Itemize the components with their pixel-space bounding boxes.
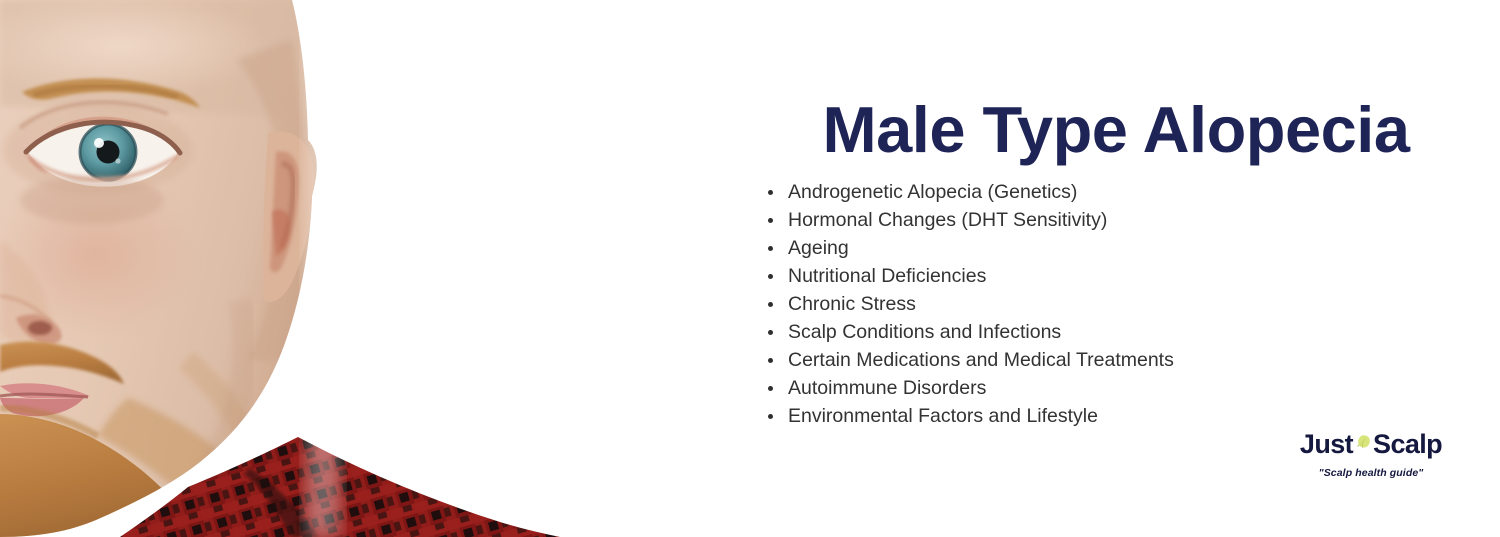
causes-list: Androgenetic Alopecia (Genetics) Hormona…: [760, 178, 1460, 430]
list-item-label: Certain Medications and Medical Treatmen…: [788, 349, 1174, 371]
logo-word-just: Just: [1300, 429, 1353, 459]
bullet-icon: [768, 218, 773, 223]
bullet-icon: [768, 414, 773, 419]
bullet-icon: [768, 190, 773, 195]
bullet-icon: [768, 246, 773, 251]
list-item-label: Autoimmune Disorders: [788, 377, 986, 399]
brand-logo: Just Scalp "Scalp health guide": [1296, 428, 1446, 490]
logo-tagline: "Scalp health guide": [1296, 467, 1446, 479]
list-item: Environmental Factors and Lifestyle: [760, 402, 1460, 430]
list-item: Hormonal Changes (DHT Sensitivity): [760, 206, 1460, 234]
list-item: Chronic Stress: [760, 290, 1460, 318]
list-item: Autoimmune Disorders: [760, 374, 1460, 402]
list-item-label: Scalp Conditions and Infections: [788, 321, 1061, 343]
bullet-icon: [768, 302, 773, 307]
man-face-photo: [0, 0, 560, 537]
list-item-label: Hormonal Changes (DHT Sensitivity): [788, 209, 1107, 231]
logo-wordmark: Just Scalp: [1296, 428, 1446, 460]
face-illustration: [0, 0, 560, 537]
list-item-label: Androgenetic Alopecia (Genetics): [788, 181, 1077, 203]
page-title: Male Type Alopecia: [742, 96, 1490, 164]
list-item: Nutritional Deficiencies: [760, 262, 1460, 290]
content-panel: Male Type Alopecia Androgenetic Alopecia…: [700, 0, 1500, 537]
list-item-label: Ageing: [788, 237, 849, 259]
list-item-label: Chronic Stress: [788, 293, 916, 315]
list-item: Certain Medications and Medical Treatmen…: [760, 346, 1460, 374]
bullet-icon: [768, 274, 773, 279]
bullet-icon: [768, 386, 773, 391]
leaf-icon: [1353, 432, 1373, 452]
list-item: Ageing: [760, 234, 1460, 262]
bullet-icon: [768, 358, 773, 363]
list-item-label: Environmental Factors and Lifestyle: [788, 405, 1098, 427]
list-item: Scalp Conditions and Infections: [760, 318, 1460, 346]
bullet-icon: [768, 330, 773, 335]
logo-word-scalp: Scalp: [1373, 429, 1442, 459]
list-item-label: Nutritional Deficiencies: [788, 265, 986, 287]
infographic-canvas: Male Type Alopecia Androgenetic Alopecia…: [0, 0, 1500, 537]
list-item: Androgenetic Alopecia (Genetics): [760, 178, 1460, 206]
